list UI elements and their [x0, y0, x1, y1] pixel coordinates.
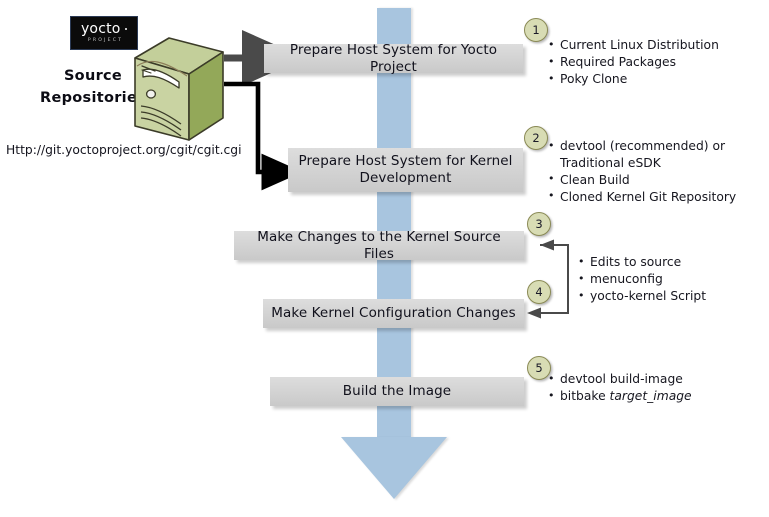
step-box-1-label: Prepare Host System for Yocto Project	[272, 42, 515, 76]
step-2-bullet-2: Cloned Kernel Git Repository	[560, 190, 736, 204]
step-box-5-label: Build the Image	[343, 383, 451, 400]
list-item: Clean Build	[548, 172, 760, 189]
list-item: menuconfig	[578, 271, 758, 288]
step-1-bullet-0: Current Linux Distribution	[560, 38, 719, 52]
list-item: Cloned Kernel Git Repository	[548, 189, 760, 206]
step-badge-1: 1	[524, 18, 548, 42]
shared-bullet-1: menuconfig	[590, 272, 663, 286]
step-badge-1-number: 1	[532, 23, 539, 37]
list-item: bitbake target_image	[548, 388, 748, 405]
step-badge-2-number: 2	[532, 131, 539, 145]
step-badge-3: 3	[527, 212, 551, 236]
step-box-prepare-host-yocto[interactable]: Prepare Host System for Yocto Project	[264, 44, 523, 73]
shared-bullet-0: Edits to source	[590, 255, 681, 269]
list-item: devtool build-image	[548, 371, 748, 388]
step-box-prepare-host-kernel[interactable]: Prepare Host System for Kernel Developme…	[288, 148, 523, 192]
step-2-bullet-0: devtool (recommended) or Traditional eSD…	[560, 139, 725, 170]
steps-3-4-shared-bullet-list: Edits to source menuconfig yocto-kernel …	[578, 254, 758, 305]
step-box-make-kernel-config-changes[interactable]: Make Kernel Configuration Changes	[263, 299, 524, 328]
step-box-2-label: Prepare Host System for Kernel Developme…	[298, 153, 512, 187]
step-5-bullet-0: devtool build-image	[560, 372, 683, 386]
step-badge-5-number: 5	[535, 361, 542, 375]
step-1-bullet-list: Current Linux Distribution Required Pack…	[548, 37, 758, 88]
step-5-bullet-1-command: bitbake	[560, 389, 610, 403]
step-1-bullet-1: Required Packages	[560, 55, 676, 69]
step-badge-4-number: 4	[535, 285, 542, 299]
logo-wordmark: yocto	[81, 22, 127, 36]
list-item: Poky Clone	[548, 71, 758, 88]
list-item: yocto-kernel Script	[578, 288, 758, 305]
source-repository-url: Http://git.yoctoproject.org/cgit/cgit.cg…	[6, 143, 232, 157]
step-badge-2: 2	[524, 126, 548, 150]
step-box-2-line1: Prepare Host System for Kernel	[298, 153, 512, 169]
arrowhead-into-step3	[540, 240, 554, 251]
yocto-project-logo: yocto PROJECT	[70, 16, 138, 50]
step-2-bullet-1: Clean Build	[560, 173, 630, 187]
logo-wordmark-text: yocto	[81, 22, 121, 36]
step-badge-4: 4	[527, 280, 551, 304]
list-item: Edits to source	[578, 254, 758, 271]
step-5-bullet-list: devtool build-image bitbake target_image	[548, 371, 748, 405]
logo-dot-icon	[125, 28, 128, 31]
step-5-bullet-1-arg: target_image	[610, 389, 692, 403]
step-2-bullet-list: devtool (recommended) or Traditional eSD…	[548, 138, 760, 206]
step-box-4-label: Make Kernel Configuration Changes	[271, 305, 515, 322]
step-1-bullet-2: Poky Clone	[560, 72, 627, 86]
diagram-canvas: yocto PROJECT Source Repositories Http:/…	[0, 0, 769, 517]
step-box-make-kernel-source-changes[interactable]: Make Changes to the Kernel Source Files	[234, 231, 524, 260]
step-badge-3-number: 3	[535, 217, 542, 231]
list-item: Current Linux Distribution	[548, 37, 758, 54]
server-tower-icon	[131, 36, 227, 144]
main-flow-arrow-head	[341, 437, 447, 499]
arrow-server-to-step2	[224, 84, 266, 172]
step-box-3-label: Make Changes to the Kernel Source Files	[242, 229, 516, 263]
step-box-2-line2: Development	[360, 170, 452, 186]
step-box-build-image[interactable]: Build the Image	[270, 377, 524, 406]
logo-subtext: PROJECT	[88, 37, 123, 44]
list-item: Required Packages	[548, 54, 758, 71]
list-item: devtool (recommended) or Traditional eSD…	[548, 138, 760, 171]
arrowhead-into-step4	[527, 308, 541, 319]
shared-bullet-2: yocto-kernel Script	[590, 289, 706, 303]
